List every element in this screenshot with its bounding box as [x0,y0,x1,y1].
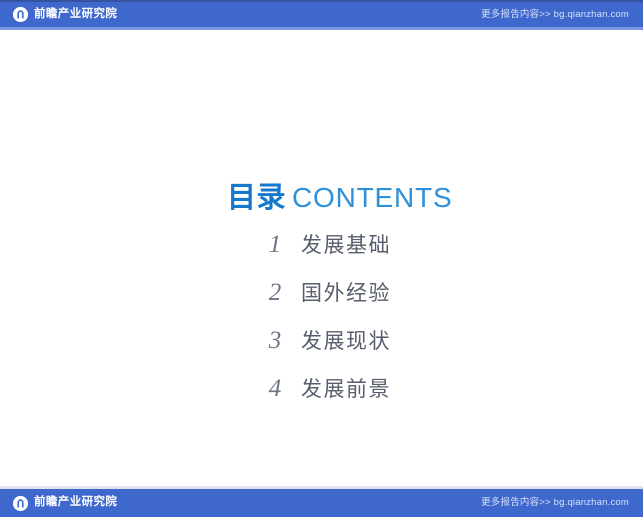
page-title: 目录CONTENTS [227,184,452,213]
header-url-text[interactable]: 更多报告内容>> bg.qianzhan.com [481,10,629,20]
footer-bar: 前瞻产业研究院 更多报告内容>> bg.qianzhan.com [0,486,643,517]
toc-item-number: 1 [262,232,288,257]
qianzhan-circle-logo-icon [13,496,28,511]
header-brand: 前瞻产业研究院 [13,7,117,22]
toc-item-number: 4 [262,376,288,401]
slide-contents-page: 前瞻产业研究院 更多报告内容>> bg.qianzhan.com 目录CONTE… [0,0,643,517]
table-of-contents-list: 1 发展基础 2 国外经验 3 发展现状 4 发展前景 [262,232,391,424]
qianzhan-circle-logo-icon [13,7,28,22]
toc-item-number: 2 [262,280,288,305]
toc-item-number: 3 [262,328,288,353]
header-brand-name: 前瞻产业研究院 [34,9,117,21]
toc-item-label: 发展基础 [301,235,391,256]
footer-url-text[interactable]: 更多报告内容>> bg.qianzhan.com [481,498,629,508]
footer-brand-name: 前瞻产业研究院 [34,497,117,509]
toc-item-label: 国外经验 [301,283,391,304]
toc-item-label: 发展现状 [301,331,391,352]
list-item[interactable]: 3 发展现状 [262,328,391,376]
slide-content-area: 目录CONTENTS 1 发展基础 2 国外经验 3 发展现状 4 发展前景 [0,33,643,483]
footer-brand: 前瞻产业研究院 [13,496,117,511]
list-item[interactable]: 4 发展前景 [262,376,391,424]
list-item[interactable]: 2 国外经验 [262,280,391,328]
page-title-cn: 目录 [227,182,286,214]
list-item[interactable]: 1 发展基础 [262,232,391,280]
header-bar: 前瞻产业研究院 更多报告内容>> bg.qianzhan.com [0,0,643,30]
toc-item-label: 发展前景 [301,379,391,400]
page-title-en: CONTENTS [292,182,452,213]
